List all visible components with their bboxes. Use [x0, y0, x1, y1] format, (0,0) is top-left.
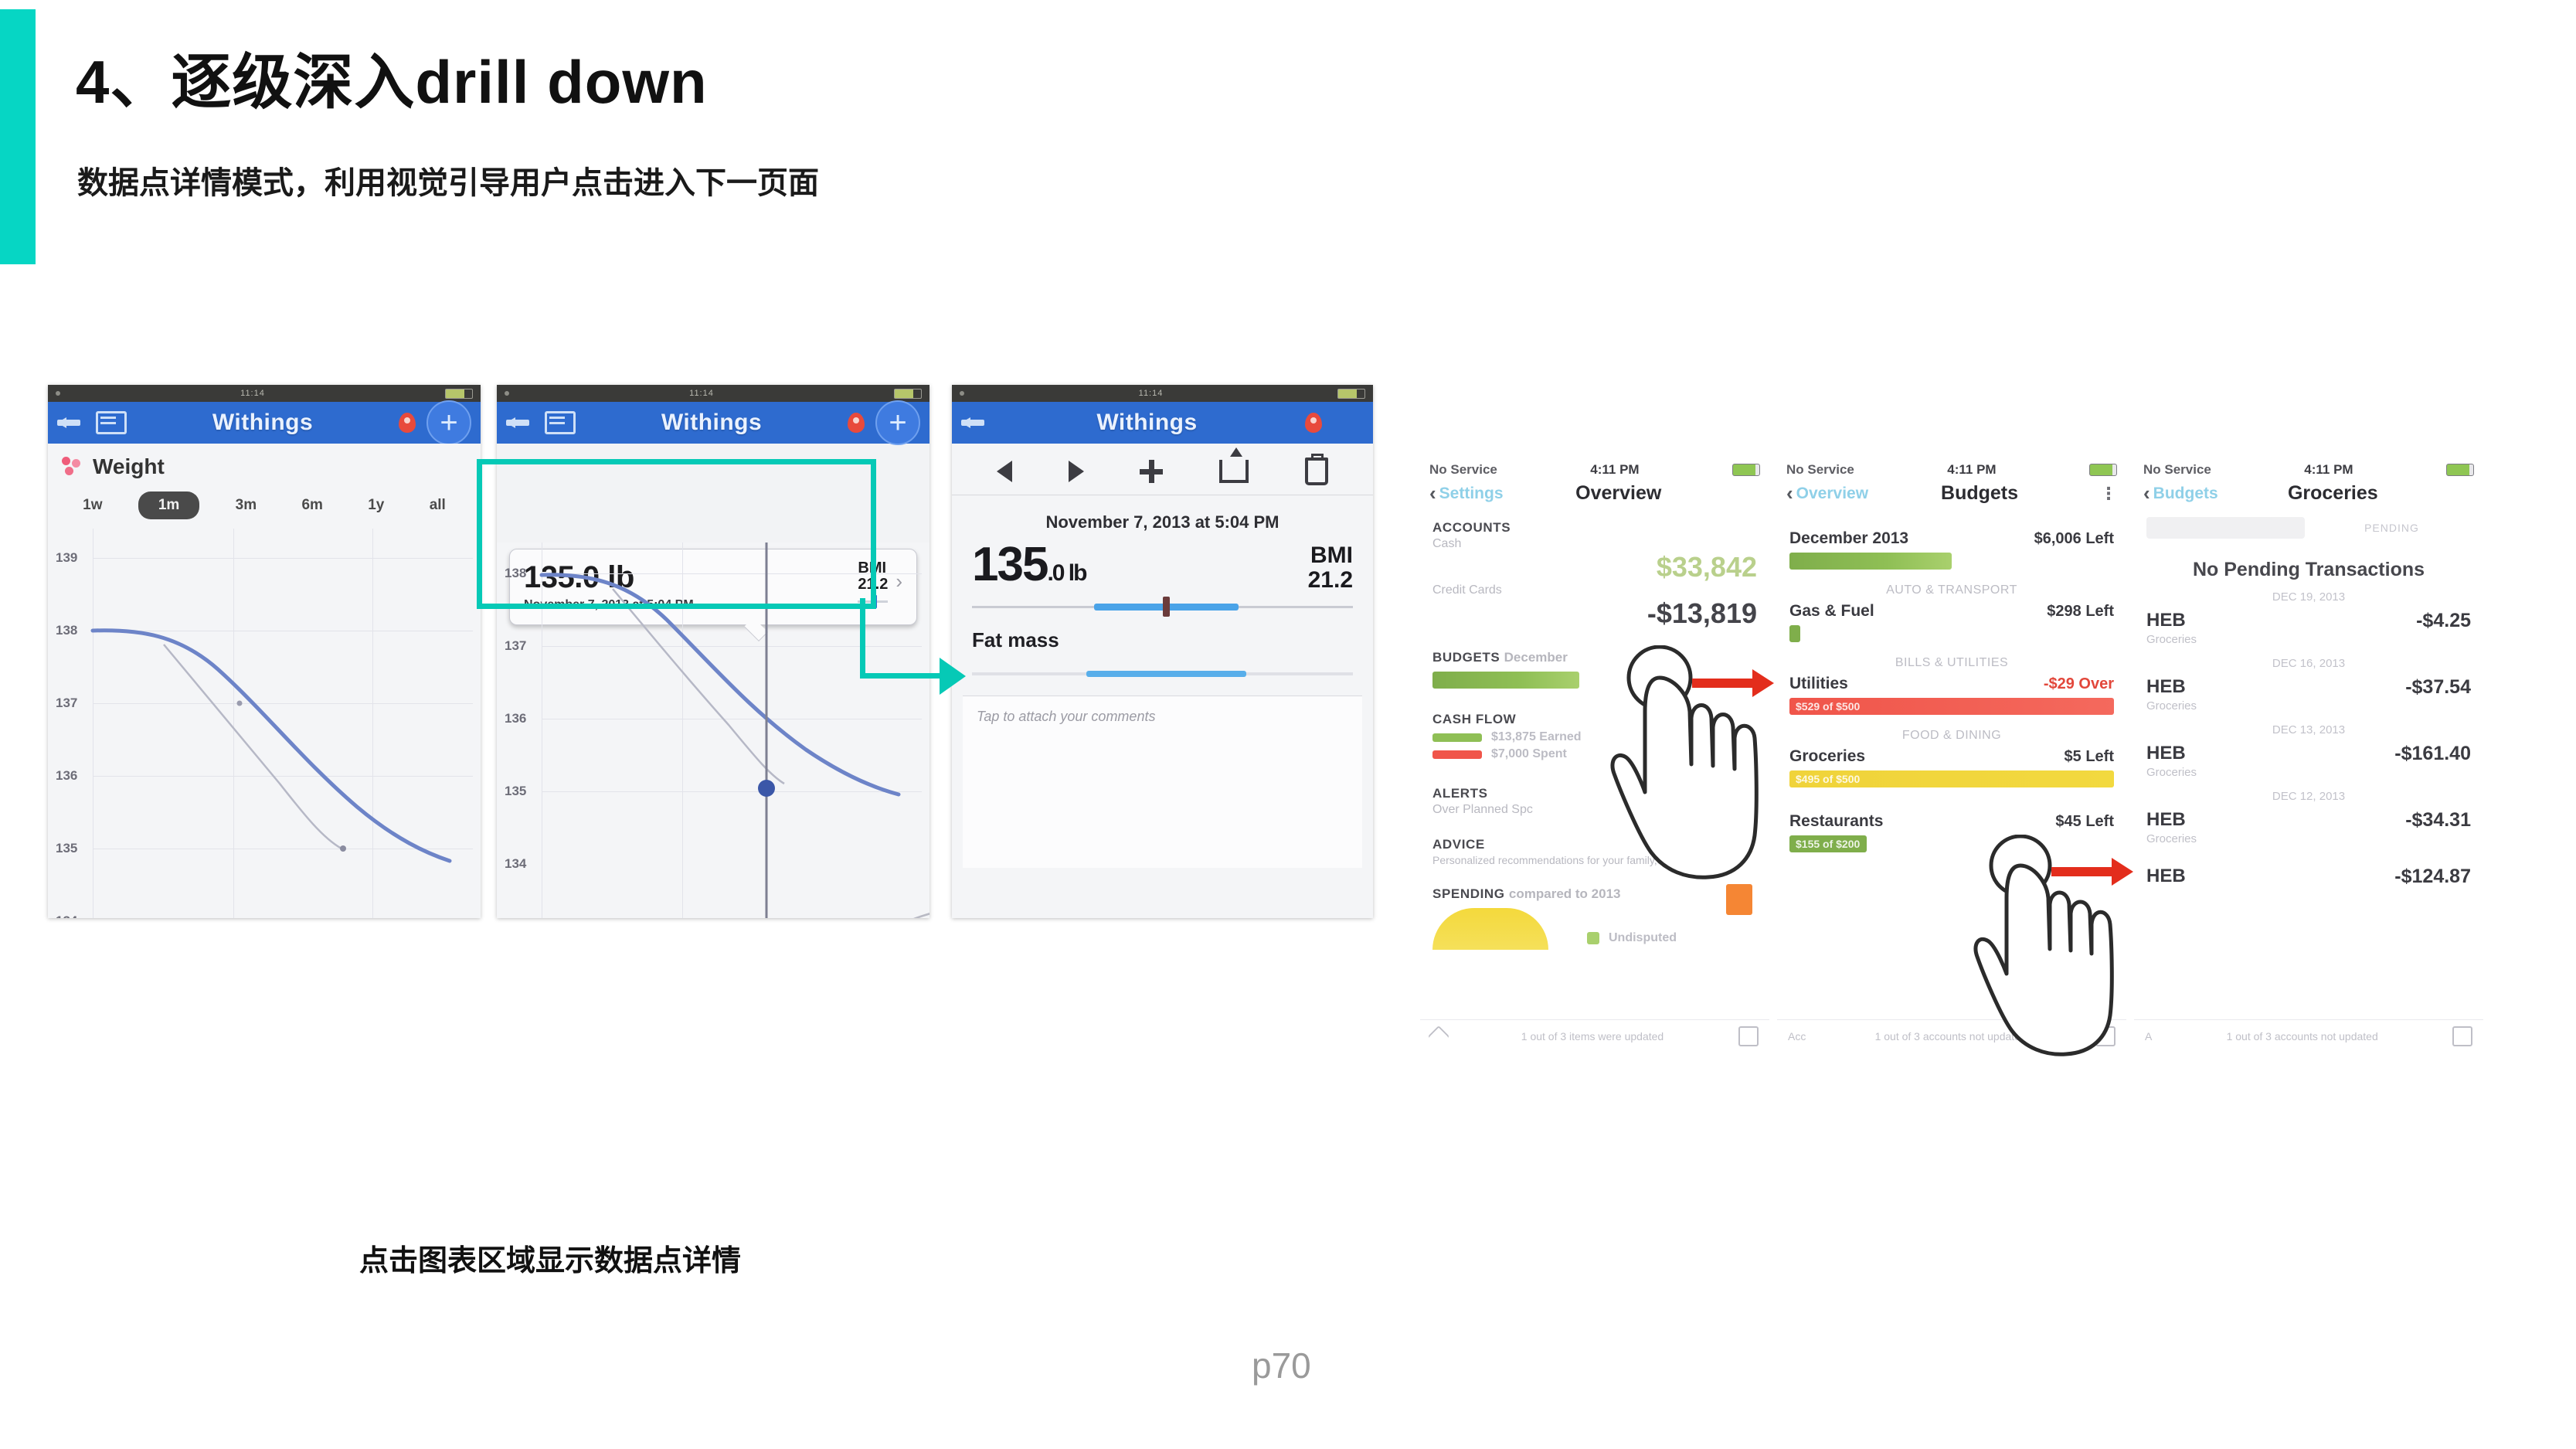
budget-value: $5 Left	[2065, 748, 2114, 766]
chevron-left-icon: ‹	[1786, 485, 1793, 502]
transaction-category: Groceries	[2146, 766, 2197, 779]
footer-status: 1 out of 3 accounts not updated	[2227, 1030, 2378, 1043]
flow-arrow-overview-to-budgets	[1692, 679, 1754, 688]
section-spending[interactable]: SPENDING compared to 2013	[1420, 866, 1769, 903]
transaction-date: DEC 16, 2013	[2134, 652, 2483, 670]
annotation-connector-vertical	[860, 598, 865, 679]
transaction-name: HEB	[2146, 809, 2197, 831]
budget-month-value: $6,006 Left	[2034, 530, 2114, 548]
transaction-category: Groceries	[2146, 633, 2197, 646]
add-button[interactable]: +	[427, 400, 471, 445]
back-button[interactable]: ‹ Overview	[1786, 485, 1868, 503]
battery-icon	[2089, 464, 2117, 476]
account-value-credit: -$13,819	[1420, 597, 1769, 630]
add-button[interactable]: +	[875, 400, 920, 445]
budget-bar-utilities: $529 of $500	[1789, 698, 2114, 715]
list-icon[interactable]	[545, 411, 576, 434]
range-3m[interactable]: 3m	[226, 493, 266, 518]
app-title: Withings	[1000, 410, 1294, 436]
transaction-date: DEC 12, 2013	[2134, 785, 2483, 803]
pending-header: PENDING	[2313, 522, 2471, 534]
status-bar: 11:14	[497, 385, 929, 402]
pin-icon[interactable]	[848, 413, 865, 433]
table-row[interactable]: HEB Groceries -$37.54	[2134, 670, 2483, 719]
budget-value: $45 Left	[2055, 813, 2114, 831]
section-alerts[interactable]: ALERTS	[1420, 763, 1769, 803]
category-header-food: FOOD & DINING	[1777, 719, 2126, 744]
status-time: 4:11 PM	[2304, 462, 2353, 478]
cash-flow-legend-spent: $7,000 Spent	[1420, 746, 1769, 763]
budget-name: Utilities	[1789, 675, 1848, 693]
back-arrow-icon[interactable]	[506, 414, 534, 431]
page-title: Budgets	[1868, 482, 2091, 505]
bmi-slider[interactable]	[972, 606, 1353, 608]
status-time: 11:14	[240, 389, 265, 398]
compose-icon[interactable]	[1738, 1026, 1759, 1046]
battery-icon	[1337, 389, 1365, 399]
page-title: 4、逐级深入drill down	[76, 34, 708, 121]
next-icon[interactable]	[1069, 461, 1084, 482]
spending-legend: Undisputed	[1575, 930, 1689, 950]
bmi-value: 21.2	[1308, 568, 1353, 593]
nav-bar: ‹ Overview Budgets ⋮	[1777, 479, 2126, 512]
page-number: p70	[1252, 1345, 1311, 1386]
measurement-date: November 7, 2013 at 5:04 PM	[952, 495, 1373, 537]
transaction-name: HEB	[2146, 610, 2197, 631]
budget-bar-gas	[1789, 625, 1800, 642]
section-cash-flow[interactable]: CASH FLOW	[1420, 693, 1769, 729]
status-dot-icon	[960, 391, 964, 396]
budget-name: Restaurants	[1789, 812, 1883, 831]
legend-text-spending: Undisputed	[1609, 931, 1677, 945]
status-time: 11:14	[689, 389, 714, 398]
section-accounts: ACCOUNTS	[1420, 512, 1769, 537]
budget-name: Gas & Fuel	[1789, 602, 1874, 621]
status-time: 4:11 PM	[1590, 462, 1639, 478]
status-bar: 11:14	[952, 385, 1373, 402]
transaction-amount: -$161.40	[2394, 743, 2471, 765]
add-icon[interactable]	[1140, 460, 1163, 483]
section-advice[interactable]: ADVICE	[1420, 817, 1769, 854]
carrier-label: No Service	[1786, 462, 1854, 478]
advice-sub: Personalized recommendations for your fa…	[1420, 854, 1769, 866]
weight-chart[interactable]: 139 138 137 136 135 134 October 2013 Nov…	[48, 529, 481, 918]
annotation-arrow-icon	[940, 658, 966, 695]
legend-text-earned: $13,875 Earned	[1491, 730, 1582, 744]
empty-state-text: No Pending Transactions	[2134, 539, 2483, 586]
carrier-label: No Service	[1429, 462, 1497, 478]
chart-lines	[48, 529, 481, 918]
transaction-amount: -$124.87	[2394, 866, 2471, 888]
budget-bar-label: $495 of $500	[1796, 773, 1860, 785]
spending-chart	[1432, 908, 1548, 950]
alerts-sub: Over Planned Spc	[1420, 803, 1769, 817]
budget-value: -$29 Over	[2044, 675, 2114, 693]
bmi-block: BMI 21.2	[1308, 543, 1353, 592]
back-label: Overview	[1796, 485, 1868, 503]
tooltip-highlight-box	[477, 459, 876, 609]
transaction-date: DEC 13, 2013	[2134, 719, 2483, 736]
account-name-credit: Credit Cards	[1420, 583, 1769, 597]
nav-bar: Withings +	[48, 402, 481, 444]
budget-row-groceries[interactable]: Groceries $5 Left	[1777, 744, 2126, 766]
section-budgets[interactable]: BUDGETS December	[1420, 630, 1769, 667]
category-header-bills: BILLS & UTILITIES	[1777, 647, 2126, 672]
compose-icon[interactable]	[2452, 1026, 2472, 1046]
battery-icon	[2446, 464, 2474, 476]
nav-bar: ‹ Settings Overview	[1420, 479, 1769, 512]
category-header-auto: AUTO & TRANSPORT	[1777, 574, 2126, 599]
budget-bar-label: $529 of $500	[1796, 700, 1860, 713]
budget-month: December 2013	[1789, 529, 1908, 548]
budget-bar-groceries: $495 of $500	[1789, 770, 2114, 787]
footer-bar: A 1 out of 3 accounts not updated	[2134, 1019, 2483, 1053]
battery-icon	[894, 389, 922, 399]
footer-left: Acc	[1788, 1030, 1806, 1043]
weight-value: 135.0 lb	[972, 537, 1086, 592]
footer-left: A	[2145, 1030, 2152, 1043]
weight-header: Weight	[48, 444, 481, 484]
list-icon[interactable]	[96, 411, 127, 434]
page-title: Groceries	[2218, 482, 2448, 505]
status-dot-icon	[505, 391, 509, 396]
range-all[interactable]: all	[420, 493, 455, 518]
transaction-date: DEC 19, 2013	[2134, 586, 2483, 604]
footer-bar: 1 out of 3 items were updated	[1420, 1019, 1769, 1053]
legend-swatch-spending	[1587, 932, 1599, 944]
app-title: Withings	[586, 410, 837, 436]
account-value-cash: $33,842	[1420, 551, 1769, 583]
fat-mass-slider[interactable]	[972, 672, 1353, 675]
range-1m[interactable]: 1m	[138, 492, 199, 519]
search-field[interactable]	[2146, 517, 2305, 539]
range-selector[interactable]: 1w 1m 3m 6m 1y all	[48, 484, 481, 526]
pin-icon[interactable]	[399, 413, 416, 433]
transaction-amount: -$37.54	[2405, 676, 2471, 699]
accent-bar	[0, 9, 36, 264]
back-button[interactable]: ‹ Budgets	[2143, 485, 2218, 503]
table-row[interactable]: HEB Groceries -$161.40	[2134, 736, 2483, 785]
slide-caption: 点击图表区域显示数据点详情	[359, 1236, 741, 1279]
withings-chart-phone: 11:14 Withings + Weight 1w 1m 3m 6m 1y a…	[48, 385, 481, 918]
budgets-progress-bar	[1432, 672, 1579, 689]
cash-flow-legend-earned: $13,875 Earned	[1420, 729, 1769, 746]
footer-bar: Acc 1 out of 3 accounts not updated	[1777, 1019, 2126, 1053]
battery-icon	[1732, 464, 1760, 476]
nav-bar: Withings +	[497, 402, 929, 444]
nav-menu-icon[interactable]: ⋮	[2091, 484, 2117, 504]
status-bar: No Service 4:11 PM	[1420, 457, 1769, 479]
budget-row-utilities[interactable]: Utilities -$29 Over	[1777, 672, 2126, 693]
withings-detail-phone: 11:14 Withings November 7, 2013 at 5:04 …	[952, 385, 1373, 918]
share-icon[interactable]	[1219, 460, 1249, 483]
annotation-connector-horizontal	[860, 673, 942, 679]
account-name-cash: Cash	[1420, 537, 1769, 551]
page-subtitle: 数据点详情模式，利用视觉引导用户点击进入下一页面	[77, 158, 819, 202]
app-title: Withings	[138, 410, 388, 436]
delete-icon[interactable]	[1305, 457, 1328, 485]
back-arrow-icon[interactable]	[961, 414, 989, 431]
status-bar: No Service 4:11 PM	[1777, 457, 2126, 479]
table-row[interactable]: HEB -$124.87	[2134, 852, 2483, 894]
page-curl-icon[interactable]	[837, 906, 929, 918]
transaction-name: HEB	[2146, 743, 2197, 764]
alerts-badge-icon	[1726, 821, 1752, 853]
chevron-left-icon: ‹	[2143, 485, 2150, 502]
pin-icon[interactable]	[1305, 413, 1322, 433]
budget-month-row[interactable]: December 2013 $6,006 Left	[1777, 512, 2126, 548]
legend-text-spent: $7,000 Spent	[1491, 747, 1567, 761]
mint-budgets-phone: No Service 4:11 PM ‹ Overview Budgets ⋮ …	[1777, 457, 2126, 1053]
carrier-label: No Service	[2143, 462, 2211, 478]
transaction-amount: -$34.31	[2405, 809, 2471, 832]
footer-status: 1 out of 3 items were updated	[1521, 1030, 1664, 1043]
back-label: Settings	[1439, 485, 1504, 503]
transaction-category: Groceries	[2146, 699, 2197, 713]
back-label: Budgets	[2153, 485, 2218, 503]
detail-toolbar	[952, 444, 1373, 495]
refresh-icon[interactable]	[1428, 1026, 1449, 1047]
flow-arrow-budgets-to-groceries	[2051, 867, 2113, 876]
table-row[interactable]: HEB Groceries -$4.25	[2134, 604, 2483, 652]
advice-badge-icon	[1726, 884, 1752, 915]
budget-name: Groceries	[1789, 747, 1865, 766]
back-button[interactable]: ‹ Settings	[1429, 485, 1504, 503]
section-label: Weight	[93, 454, 165, 479]
legend-swatch-spent	[1432, 750, 1482, 759]
mint-groceries-phone: No Service 4:11 PM ‹ Budgets Groceries P…	[2134, 457, 2483, 1053]
page-title: Overview	[1504, 482, 1734, 505]
transaction-category: Groceries	[2146, 832, 2197, 845]
previous-icon[interactable]	[997, 461, 1012, 482]
status-time: 4:11 PM	[1947, 462, 1996, 478]
chevron-left-icon: ‹	[1429, 485, 1436, 502]
bmi-label: BMI	[1308, 543, 1353, 568]
budget-row-gas[interactable]: Gas & Fuel $298 Left	[1777, 599, 2126, 621]
budget-bar-restaurants: $155 of $200	[1789, 835, 1867, 852]
measurement-main: 135.0 lb BMI 21.2	[952, 537, 1373, 592]
compose-icon[interactable]	[2095, 1026, 2116, 1046]
footer-status: 1 out of 3 accounts not updated	[1875, 1030, 2027, 1043]
transaction-amount: -$4.25	[2416, 610, 2471, 632]
nav-bar: ‹ Budgets Groceries	[2134, 479, 2483, 512]
budget-bar-label: $155 of $200	[1796, 838, 1860, 850]
weight-dots-icon	[62, 457, 82, 477]
nav-bar: Withings	[952, 402, 1373, 444]
transaction-name: HEB	[2146, 676, 2197, 698]
range-1w[interactable]: 1w	[73, 493, 111, 518]
budget-value: $298 Left	[2047, 603, 2114, 621]
table-row[interactable]: HEB Groceries -$34.31	[2134, 803, 2483, 852]
mint-overview-phone: No Service 4:11 PM ‹ Settings Overview A…	[1420, 457, 1769, 1053]
transaction-name: HEB	[2146, 866, 2186, 887]
back-arrow-icon[interactable]	[57, 414, 85, 431]
comment-field[interactable]: Tap to attach your comments	[963, 696, 1362, 868]
legend-swatch-earned	[1432, 733, 1482, 742]
budget-month-bar	[1789, 553, 1952, 570]
status-bar: No Service 4:11 PM	[2134, 457, 2483, 479]
battery-icon	[445, 389, 473, 399]
range-6m[interactable]: 6m	[292, 493, 331, 518]
range-1y[interactable]: 1y	[359, 493, 393, 518]
status-time: 11:14	[1139, 389, 1164, 398]
chart-screen: Weight 1w 1m 3m 6m 1y all 139 138 137 13…	[48, 444, 481, 918]
status-dot-icon	[56, 391, 60, 396]
status-bar: 11:14	[48, 385, 481, 402]
budget-row-restaurants[interactable]: Restaurants $45 Left	[1777, 792, 2126, 831]
detail-screen: November 7, 2013 at 5:04 PM 135.0 lb BMI…	[952, 444, 1373, 918]
